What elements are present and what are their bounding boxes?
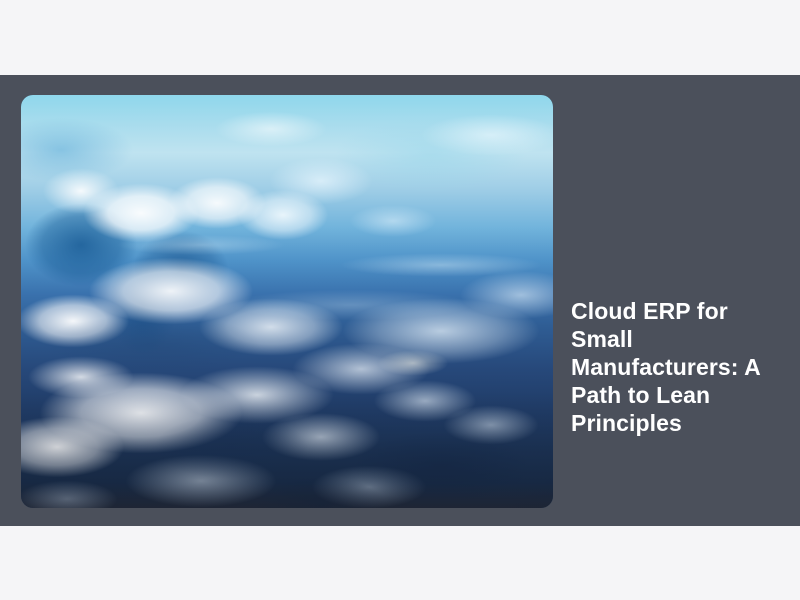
image-vignette-layer <box>21 95 553 508</box>
cloud-photo <box>21 95 553 508</box>
page-root: Cloud ERP for Small Manufacturers: A Pat… <box>0 0 800 600</box>
page-title: Cloud ERP for Small Manufacturers: A Pat… <box>571 297 767 437</box>
hero-banner: Cloud ERP for Small Manufacturers: A Pat… <box>0 75 800 526</box>
